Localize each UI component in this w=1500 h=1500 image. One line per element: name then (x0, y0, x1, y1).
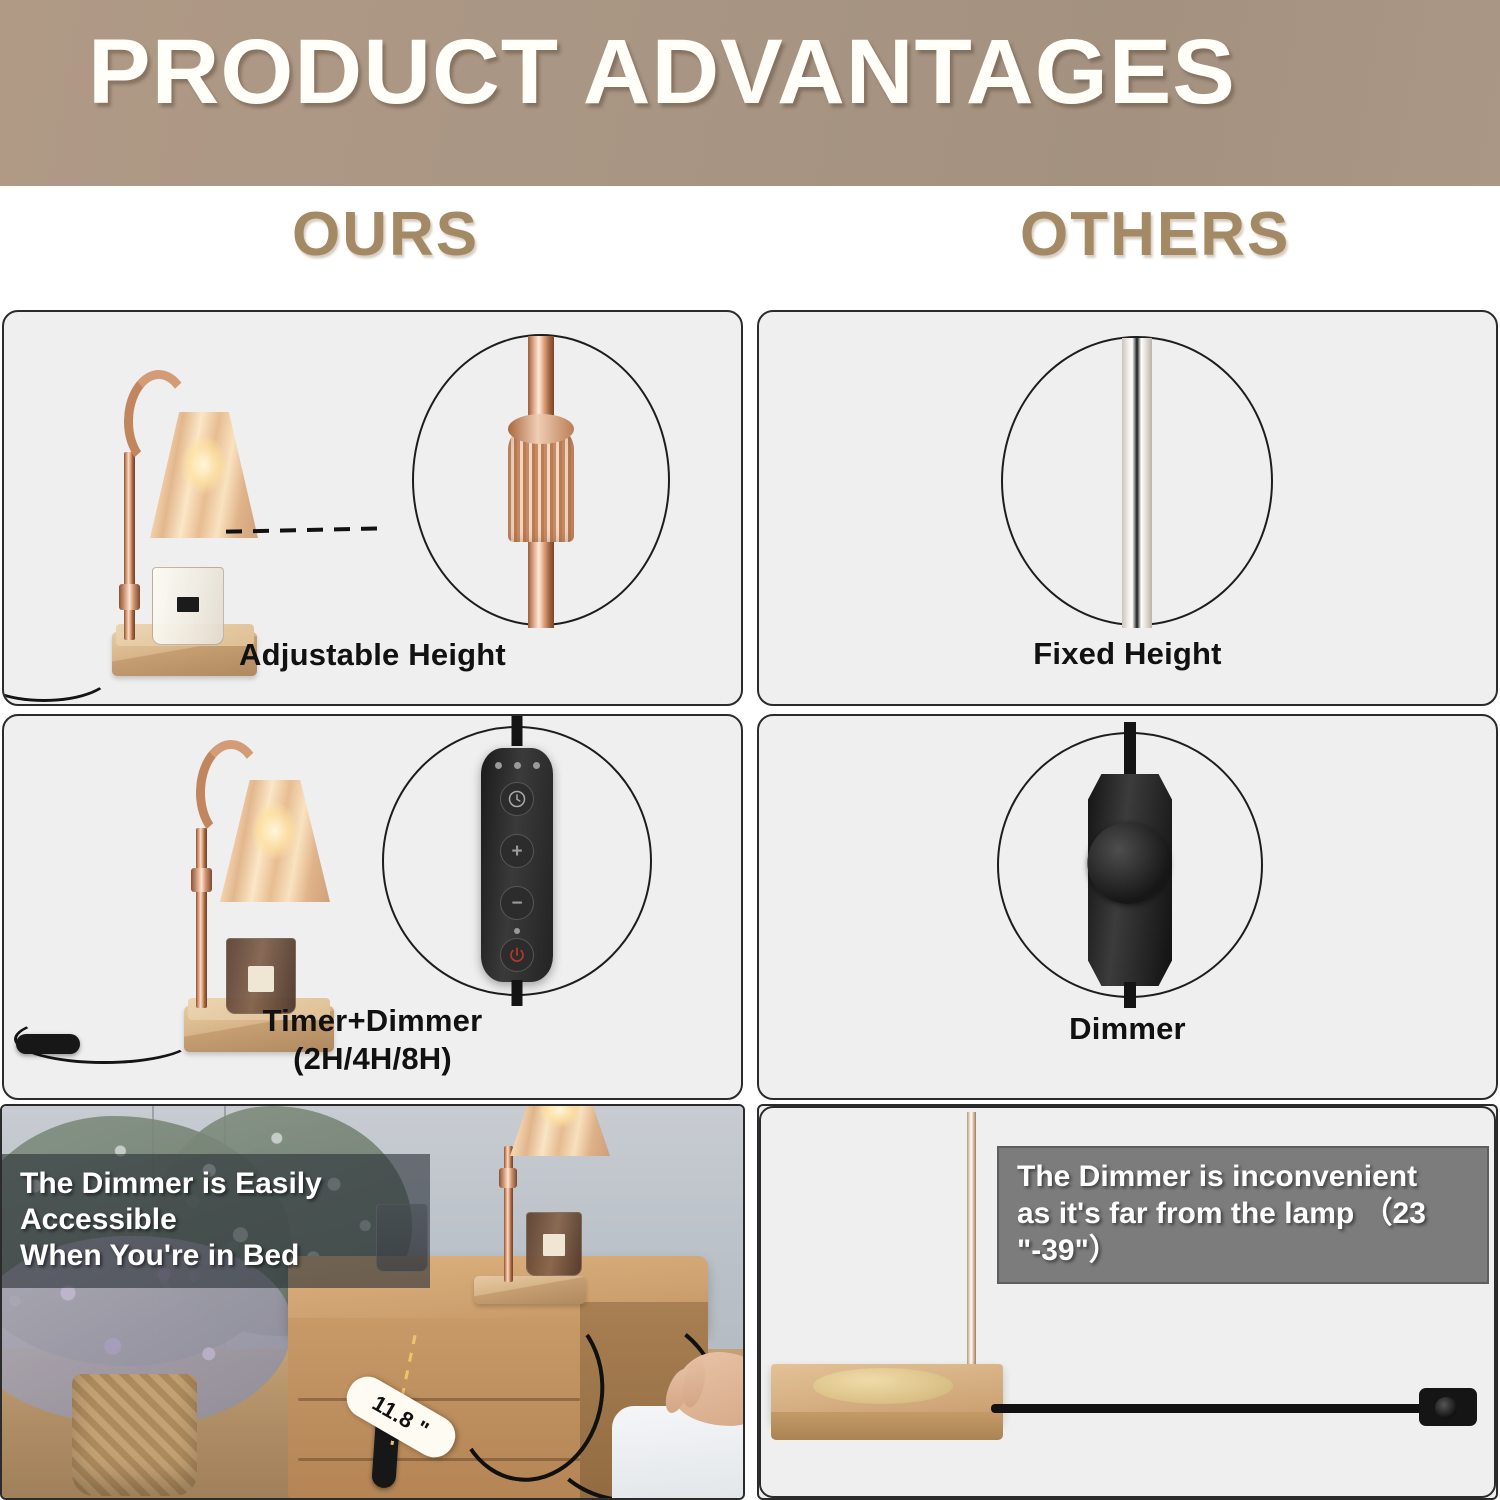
caption-dimmer: Dimmer (759, 1012, 1496, 1047)
caption-line-2: as it's far from the lamp （23 "-39"） (1017, 1195, 1469, 1269)
minus-icon: − (511, 894, 522, 913)
clock-icon (507, 789, 527, 809)
dimmer-knob[interactable] (1087, 822, 1169, 904)
panel-others-far-dimmer: The Dimmer is inconvenient as it's far f… (757, 1104, 1498, 1500)
panel-ours-timer-dimmer: + − Timer+Dimmer (2H/4H/8H) (2, 714, 743, 1100)
zoom-callout-circle-controller: + − (382, 726, 652, 996)
power-button[interactable] (500, 938, 534, 972)
led-indicator (495, 762, 502, 769)
caption-overlay-accessible: The Dimmer is Easily Accessible When You… (2, 1154, 430, 1288)
caption-inconvenient-dimmer: The Dimmer is inconvenient as it's far f… (997, 1146, 1489, 1284)
timer-dimmer-controller: + − (481, 748, 553, 982)
page-title: PRODUCT ADVANTAGES (88, 26, 1236, 118)
candle-jar (152, 567, 224, 645)
lamp-rod (967, 1112, 976, 1380)
far-dimmer-module (1419, 1388, 1477, 1426)
status-led (514, 928, 520, 934)
caption-line-1: The Dimmer is Easily Accessible (20, 1166, 414, 1238)
column-label-others: OTHERS (1020, 204, 1290, 266)
zoom-callout-circle-collar (412, 334, 670, 626)
power-icon (508, 946, 526, 964)
header-banner: PRODUCT ADVANTAGES (0, 0, 1500, 186)
gold-plate (813, 1368, 953, 1404)
caption-timer-dimmer-line1: Timer+Dimmer (4, 1004, 741, 1039)
decrease-button[interactable]: − (500, 886, 534, 920)
timer-button[interactable] (500, 782, 534, 816)
caption-line-2: When You're in Bed (20, 1238, 414, 1274)
panel-others-dimmer: Dimmer (757, 714, 1498, 1100)
zoom-callout-circle-rod (1001, 336, 1273, 626)
zoom-callout-circle-dimmer (997, 732, 1263, 998)
caption-fixed-height: Fixed Height (759, 637, 1496, 672)
caption-timer-dimmer-line2: (2H/4H/8H) (4, 1042, 741, 1077)
panel-ours-adjustable-height: Adjustable Height (2, 310, 743, 706)
column-headers: OURS OTHERS (0, 186, 1500, 308)
woven-basket (72, 1374, 197, 1496)
caption-adjustable-height: Adjustable Height (4, 638, 741, 673)
panel-others-fixed-height: Fixed Height (757, 310, 1498, 706)
power-cord (991, 1404, 1431, 1413)
plus-icon: + (511, 842, 522, 861)
led-indicator (533, 762, 540, 769)
column-label-ours: OURS (292, 204, 479, 266)
increase-button[interactable]: + (500, 834, 534, 868)
led-indicator (514, 762, 521, 769)
product-advantages-infographic: PRODUCT ADVANTAGES OURS OTHERS (0, 0, 1500, 1500)
panel-bedroom-scene: 11.8 " The Dimmer is Easily Accessible W… (0, 1104, 745, 1500)
caption-line-1: The Dimmer is inconvenient (1017, 1158, 1469, 1195)
